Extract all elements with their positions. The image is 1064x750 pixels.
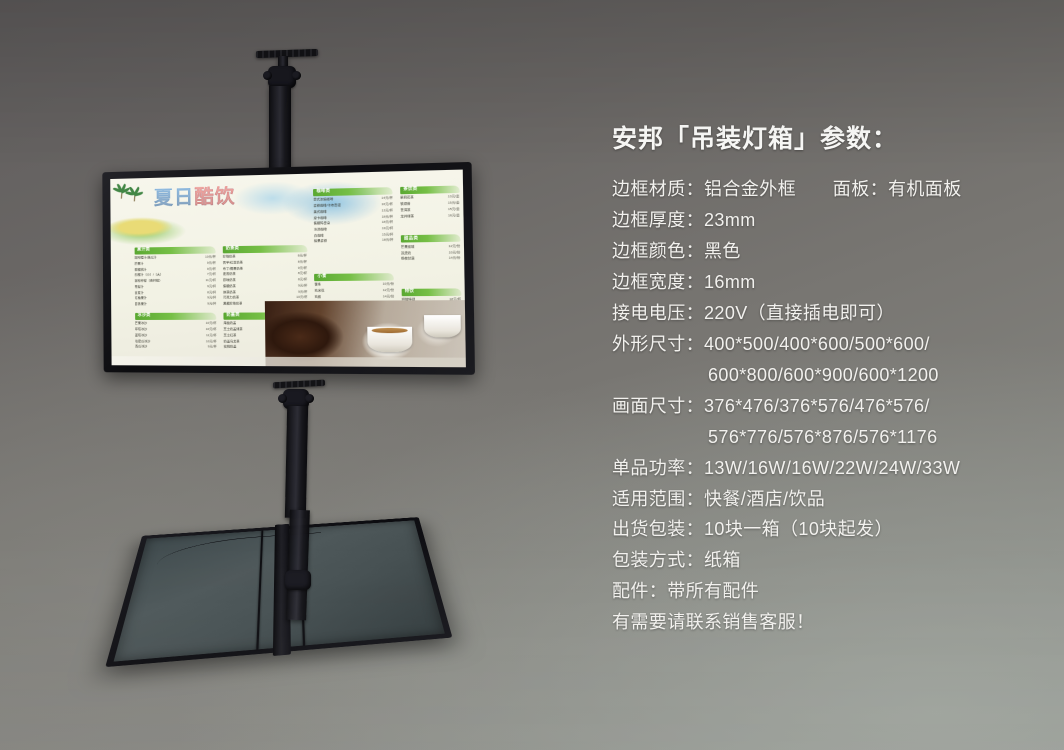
spec-row: 外形尺寸：400*500/400*600/500*600/ xyxy=(612,329,1042,360)
spec-value: 400*500/400*600/500*600/ xyxy=(704,334,930,354)
spec-label: 单品功率： xyxy=(612,458,704,478)
lower-pole-extension xyxy=(286,510,310,621)
spec-row: 配件：带所有配件 xyxy=(612,576,1042,607)
spec-label: 边框宽度： xyxy=(612,272,704,292)
rear-box-pivot-joint xyxy=(285,570,311,590)
spec-value: 600*800/600*900/600*1200 xyxy=(708,365,939,385)
spec-row: 边框厚度：23mm xyxy=(612,205,1042,236)
spec-value: 16mm xyxy=(704,272,756,292)
spec-value: 576*776/576*876/576*1176 xyxy=(708,427,938,447)
lower-drop-pole xyxy=(285,406,308,518)
spec-row: 单品功率：13W/16W/16W/22W/24W/33W xyxy=(612,453,1042,484)
spec-row: 包装方式：纸箱 xyxy=(612,545,1042,576)
spec-value: 220V（直接插电即可） xyxy=(704,303,895,323)
spec-label: 画面尺寸： xyxy=(612,396,704,416)
spec-row: 出货包装：10块一箱（10块起发） xyxy=(612,514,1042,545)
spec-label: 边框材质： xyxy=(612,179,704,199)
lower-pivot-knob-left xyxy=(278,394,287,403)
spec-label: 外形尺寸： xyxy=(612,334,704,354)
spec-row: 边框材质：铝合金外框 面板：有机面板 xyxy=(612,174,1042,205)
spec-row: 576*776/576*876/576*1176 xyxy=(612,422,1042,453)
lower-pivot-knob-right xyxy=(305,394,314,403)
spec-panel: 安邦「吊装灯箱」参数： 边框材质：铝合金外框 面板：有机面板边框厚度：23mm边… xyxy=(612,124,1042,638)
spec-row: 接电电压：220V（直接插电即可） xyxy=(612,298,1042,329)
spec-value: 快餐/酒店/饮品 xyxy=(704,489,825,509)
spec-label: 接电电压： xyxy=(612,303,704,323)
spec-value: 23mm xyxy=(704,210,756,230)
spec-row: 600*800/600*900/600*1200 xyxy=(612,360,1042,391)
spec-row: 画面尺寸：376*476/376*576/476*576/ xyxy=(612,391,1042,422)
spec-value: 有需要请联系销售客服！ xyxy=(612,612,814,632)
background-stage: 夏日酷饮 果汁类 鲜榨橙汁/西瓜汁10元/杯芒果汁9元/杯猕猴桃汁9元/杯石榴汁… xyxy=(0,0,1064,750)
spec-row: 适用范围：快餐/酒店/饮品 xyxy=(612,484,1042,515)
spec-label: 配件： xyxy=(612,581,667,601)
spec-title: 安邦「吊装灯箱」参数： xyxy=(612,124,1042,154)
lower-mount-plate xyxy=(273,380,325,389)
spec-value: 10块一箱（10块起发） xyxy=(704,519,893,539)
lower-plate-screws xyxy=(273,380,325,389)
spec-value: 铝合金外框 面板：有机面板 xyxy=(704,179,962,199)
spec-value: 纸箱 xyxy=(704,550,741,570)
spec-rows: 边框材质：铝合金外框 面板：有机面板边框厚度：23mm边框颜色：黑色边框宽度：1… xyxy=(612,174,1042,638)
spec-label: 适用范围： xyxy=(612,489,704,509)
spec-label: 出货包装： xyxy=(612,519,704,539)
spec-label: 边框厚度： xyxy=(612,210,704,230)
spec-label: 边框颜色： xyxy=(612,241,704,261)
spec-value: 13W/16W/16W/22W/24W/33W xyxy=(704,458,960,478)
spec-value: 376*476/376*576/476*576/ xyxy=(704,396,930,416)
spec-label: 包装方式： xyxy=(612,550,704,570)
spec-row: 边框颜色：黑色 xyxy=(612,236,1042,267)
spec-row: 有需要请联系销售客服！ xyxy=(612,607,1042,638)
spec-row: 边框宽度：16mm xyxy=(612,267,1042,298)
spec-value: 带所有配件 xyxy=(667,581,759,601)
spec-value: 黑色 xyxy=(704,241,741,261)
